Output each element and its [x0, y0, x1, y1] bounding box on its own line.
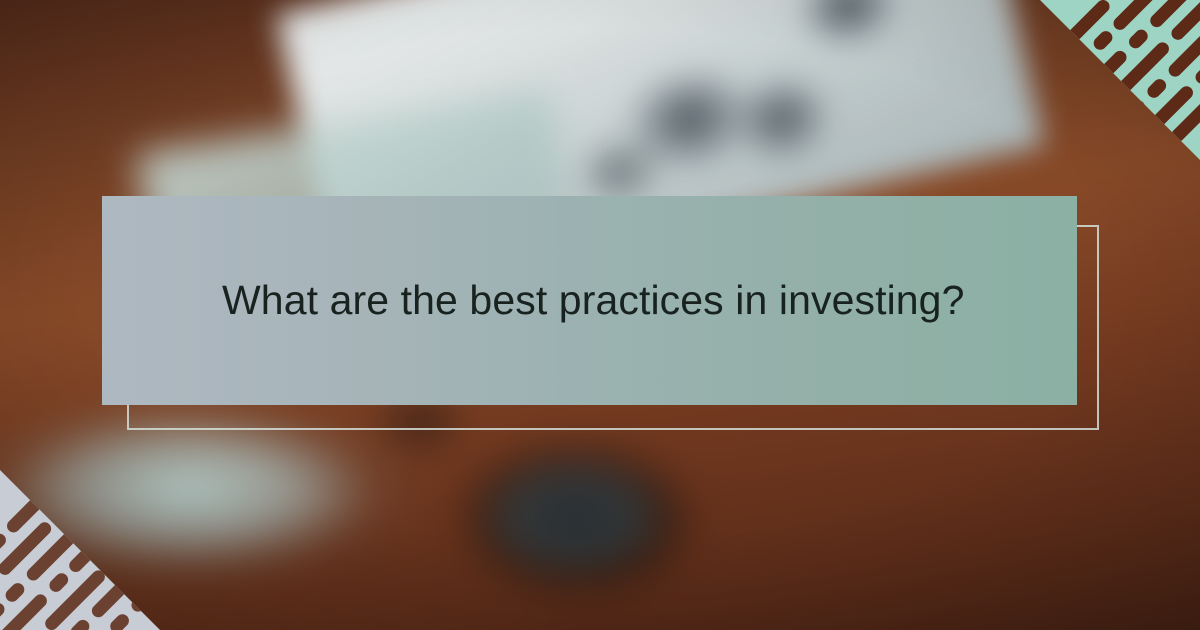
diagonal-dash-pattern-icon	[1040, 0, 1200, 160]
page-title: What are the best practices in investing…	[102, 278, 964, 323]
bottom-left-decoration	[0, 470, 160, 630]
diagonal-dash-pattern-icon	[0, 470, 160, 630]
question-banner: What are the best practices in investing…	[102, 196, 1077, 405]
poster-canvas: What are the best practices in investing…	[0, 0, 1200, 630]
top-right-decoration	[1040, 0, 1200, 160]
